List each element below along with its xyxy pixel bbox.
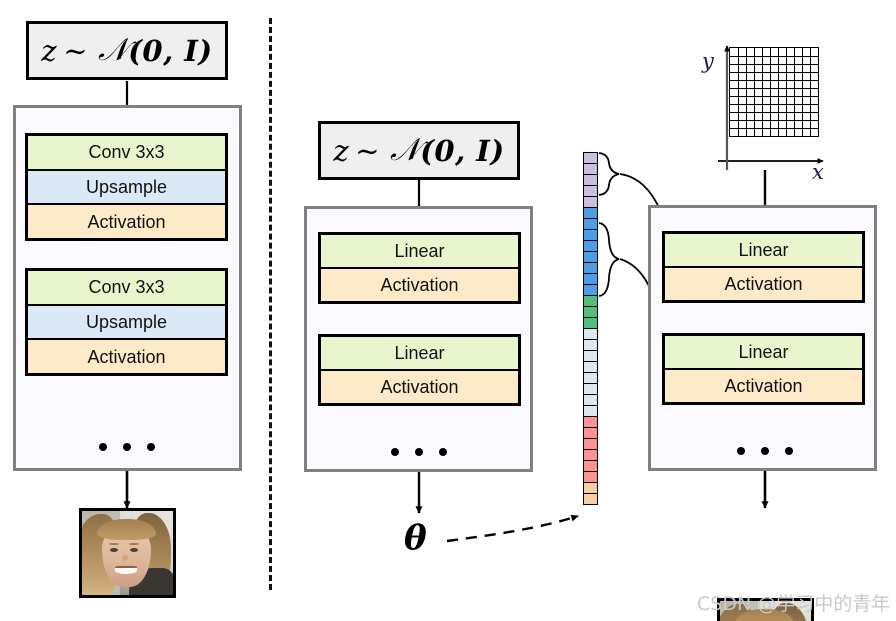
middle-block-2-linear: Linear (321, 337, 518, 371)
grid-line-vertical (754, 48, 755, 136)
middle-block-2-activation: Activation (321, 371, 518, 403)
grid-line-horizontal (730, 80, 818, 81)
left-ellipsis (99, 443, 155, 451)
csdn-watermark: CSDN @学习中的青年 (697, 589, 890, 616)
left-sample-z: z (41, 34, 57, 68)
left-sample-args: (0, I) (128, 34, 212, 68)
left-sample-normal-symbol: 𝒩 (94, 32, 128, 69)
grid-line-vertical (810, 48, 811, 136)
grid-line-horizontal (730, 96, 818, 97)
middle-sample-normal-symbol: 𝒩 (386, 132, 420, 169)
grid-line-vertical (770, 48, 771, 136)
grid-line-horizontal (730, 112, 818, 113)
section-divider (269, 18, 272, 590)
grid-line-horizontal (730, 64, 818, 65)
grid-line-horizontal (730, 104, 818, 105)
middle-block-2: Linear Activation (318, 334, 521, 406)
right-block-2-linear: Linear (665, 336, 862, 370)
left-block-1: Conv 3x3 Upsample Activation (25, 133, 228, 241)
left-block-2-activation: Activation (28, 340, 225, 373)
grid-line-vertical (746, 48, 747, 136)
left-block-1-upsample: Upsample (28, 171, 225, 206)
middle-sample-box: z ∼ 𝒩 (0, I) (318, 121, 520, 180)
grid-line-vertical (762, 48, 763, 136)
grid-line-vertical (794, 48, 795, 136)
left-block-1-conv: Conv 3x3 (28, 136, 225, 171)
grid-line-horizontal (730, 72, 818, 73)
right-block-2-activation: Activation (665, 370, 862, 402)
right-ellipsis (737, 447, 793, 455)
middle-sample-args: (0, I) (420, 134, 504, 168)
middle-block-1-linear: Linear (321, 235, 518, 269)
middle-block-1: Linear Activation (318, 232, 521, 304)
right-block-1-activation: Activation (665, 268, 862, 300)
grid-line-vertical (786, 48, 787, 136)
grid-line-vertical (802, 48, 803, 136)
grid-line-vertical (738, 48, 739, 136)
left-sample-tilde: ∼ (57, 34, 94, 68)
plot-grid (729, 47, 819, 137)
left-block-1-activation: Activation (28, 205, 225, 238)
middle-block-1-activation: Activation (321, 269, 518, 301)
middle-sample-z: z (333, 134, 349, 168)
grid-line-horizontal (730, 120, 818, 121)
plot-x-label: x (812, 160, 824, 184)
grid-line-horizontal (730, 128, 818, 129)
weight-cell (583, 493, 598, 505)
left-output-image (79, 508, 176, 598)
grid-line-horizontal (730, 56, 818, 57)
middle-ellipsis (391, 448, 447, 456)
theta-symbol: θ (404, 518, 427, 558)
middle-sample-tilde: ∼ (349, 134, 386, 168)
right-block-1: Linear Activation (662, 231, 865, 303)
right-block-2: Linear Activation (662, 333, 865, 405)
weight-strip (583, 152, 598, 504)
diagram-canvas: z ∼ 𝒩 (0, I) Conv 3x3 Upsample Activatio… (0, 0, 896, 621)
left-block-2: Conv 3x3 Upsample Activation (25, 268, 228, 376)
grid-line-vertical (778, 48, 779, 136)
coordinate-plot: y x (680, 20, 896, 180)
grid-line-horizontal (730, 88, 818, 89)
plot-y-label: y (702, 49, 714, 73)
left-sample-box: z ∼ 𝒩 (0, I) (26, 21, 228, 80)
right-block-1-linear: Linear (665, 234, 862, 268)
left-block-2-conv: Conv 3x3 (28, 271, 225, 306)
left-block-2-upsample: Upsample (28, 306, 225, 341)
